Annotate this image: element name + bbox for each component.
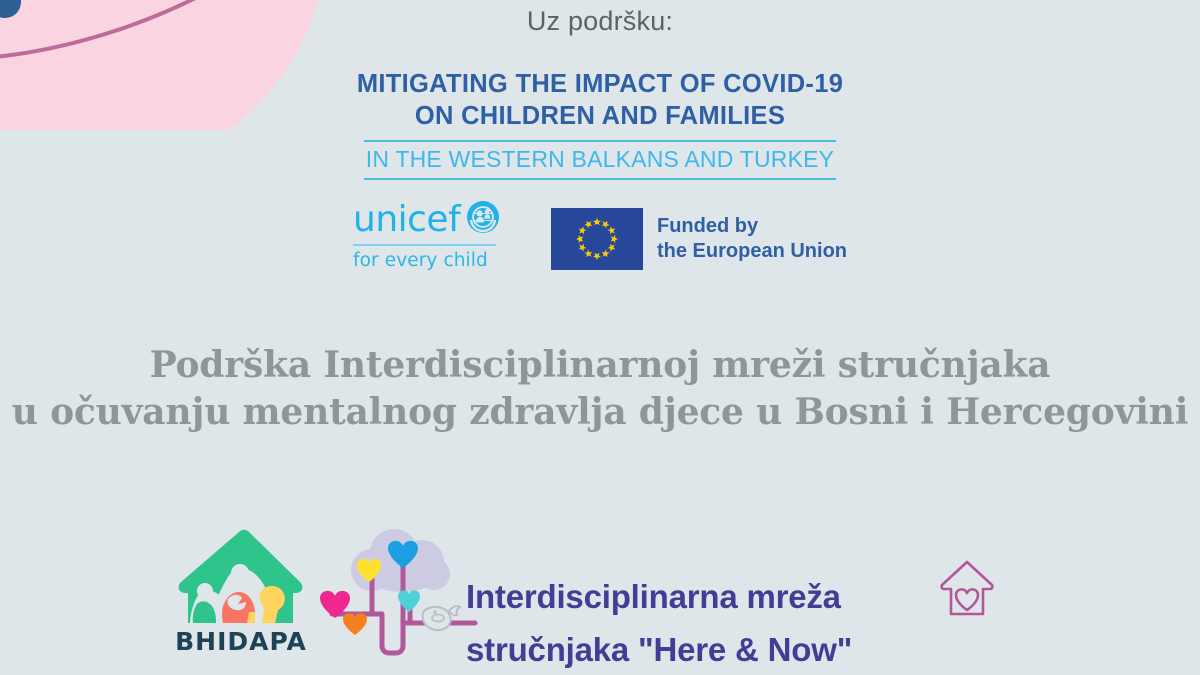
page-title: Podrška Interdisciplinarnoj mreži stručn… — [0, 342, 1200, 436]
unicef-logo-top: unicef — [353, 200, 500, 239]
network-name-line2: stručnjaka "Here & Now" — [466, 623, 852, 675]
eu-funding-line1: Funded by — [657, 214, 847, 239]
partner-logos-row: unicef — [0, 200, 1200, 271]
unicef-wordmark: unicef — [353, 202, 460, 238]
unicef-logo: unicef — [353, 200, 503, 271]
eu-flag-icon — [551, 208, 643, 270]
poster-canvas: Uz podršku: MITIGATING THE IMPACT OF COV… — [0, 0, 1200, 675]
tree-hearts-bird-icon — [310, 526, 480, 666]
covid-banner: MITIGATING THE IMPACT OF COVID-19 ON CHI… — [0, 68, 1200, 180]
network-name-line1: Interdisciplinarna mreža — [466, 570, 852, 623]
bhidapa-logo: BHIDAPA — [176, 528, 306, 656]
supported-by-label: Uz podršku: — [0, 6, 1200, 37]
unicef-emblem-icon — [466, 200, 500, 239]
network-name: Interdisciplinarna mreža stručnjaka "Her… — [466, 570, 852, 675]
eu-funding-line2: the European Union — [657, 239, 847, 264]
unicef-tagline: for every child — [353, 250, 488, 271]
brand-band: BHIDAPA — [0, 520, 1200, 675]
eu-funding-logo: Funded by the European Union — [551, 208, 847, 270]
covid-banner-line1: MITIGATING THE IMPACT OF COVID-19 — [0, 68, 1200, 100]
unicef-divider — [353, 244, 496, 246]
covid-banner-subtitle-box: IN THE WESTERN BALKANS AND TURKEY — [364, 140, 836, 180]
page-title-line2: u očuvanju mentalnog zdravlja djece u Bo… — [0, 389, 1200, 436]
network-logo — [310, 526, 480, 666]
bhidapa-house-icon: BHIDAPA — [176, 528, 306, 656]
eu-funding-text: Funded by the European Union — [657, 214, 847, 264]
bhidapa-wordmark: BHIDAPA — [176, 627, 306, 656]
covid-banner-line2: ON CHILDREN AND FAMILIES — [0, 100, 1200, 132]
house-heart-outline-icon — [936, 558, 998, 620]
covid-banner-subtitle: IN THE WESTERN BALKANS AND TURKEY — [366, 146, 834, 173]
page-title-line1: Podrška Interdisciplinarnoj mreži stručn… — [0, 342, 1200, 389]
